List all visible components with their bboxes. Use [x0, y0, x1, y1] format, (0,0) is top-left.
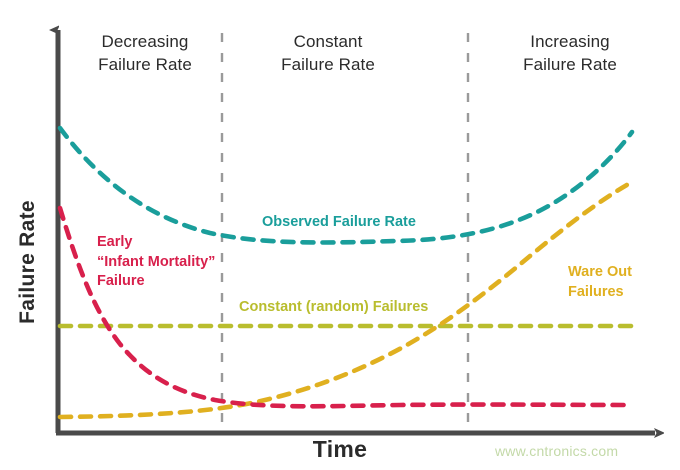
zone-title-constant: Constant Failure Rate [248, 30, 408, 76]
zone-dividers [222, 33, 468, 431]
zone-title-increasing: Increasing Failure Rate [490, 30, 650, 76]
curve-label-observed-failure-rate: Observed Failure Rate [262, 213, 416, 232]
x-axis-label: Time [280, 436, 400, 463]
curve-label-ware-out-failures: Ware Out Failures [568, 263, 632, 302]
y-axis-label: Failure Rate [16, 182, 40, 342]
zone-title-decreasing: Decreasing Failure Rate [70, 30, 220, 76]
curve-label-infant-mortality-failure: Early “Infant Mortality” Failure [97, 233, 215, 292]
watermark: www.cntronics.com [495, 443, 618, 459]
curve-label-constant-random-failures: Constant (random) Failures [239, 298, 428, 317]
bathtub-curve-figure: Decreasing Failure Rate Constant Failure… [0, 0, 680, 470]
